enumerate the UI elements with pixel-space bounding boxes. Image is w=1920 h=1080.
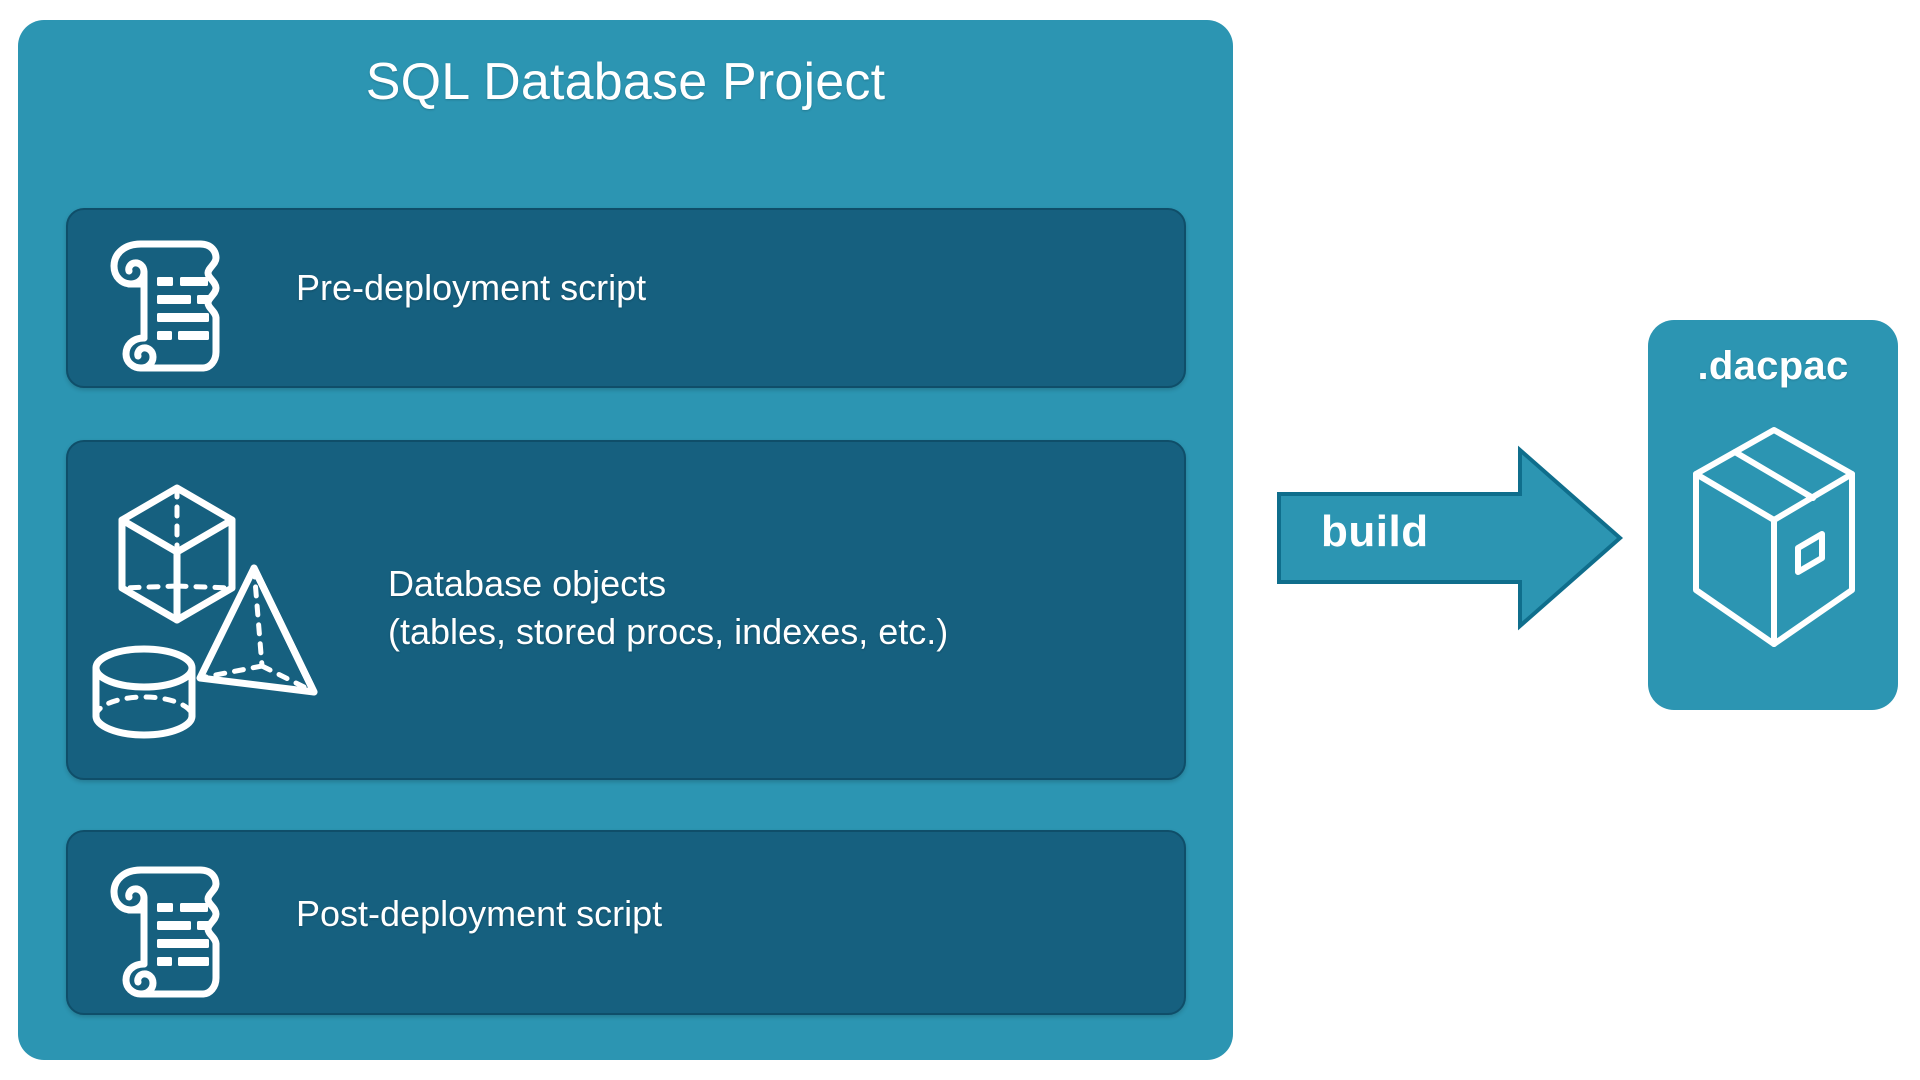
database-shapes-icon-group bbox=[82, 460, 367, 760]
cylinder-hidden-edge bbox=[96, 697, 192, 716]
page-title: SQL Database Project bbox=[18, 52, 1233, 112]
post-deployment-script-item[interactable]: Post-deployment script bbox=[66, 830, 1186, 1015]
pre-deployment-script-item[interactable]: Pre-deployment script bbox=[66, 208, 1186, 388]
cube-hidden-edges bbox=[122, 488, 232, 588]
build-arrow[interactable]: build bbox=[1277, 448, 1622, 628]
sql-database-project-panel: SQL Database Project bbox=[18, 20, 1233, 1060]
package-box-icon bbox=[1686, 412, 1862, 662]
dacpac-title: .dacpac bbox=[1648, 344, 1898, 389]
scroll-icon bbox=[88, 854, 238, 999]
dacpac-output-card[interactable]: .dacpac bbox=[1648, 320, 1898, 710]
post-deployment-script-label: Post-deployment script bbox=[296, 890, 662, 938]
diagram-canvas: SQL Database Project bbox=[0, 0, 1920, 1080]
scroll-icon bbox=[88, 228, 238, 373]
cylinder-icon bbox=[96, 649, 192, 735]
pre-deployment-script-label: Pre-deployment script bbox=[296, 264, 646, 312]
database-objects-label: Database objects (tables, stored procs, … bbox=[388, 560, 948, 656]
database-objects-item[interactable]: Database objects (tables, stored procs, … bbox=[66, 440, 1186, 780]
